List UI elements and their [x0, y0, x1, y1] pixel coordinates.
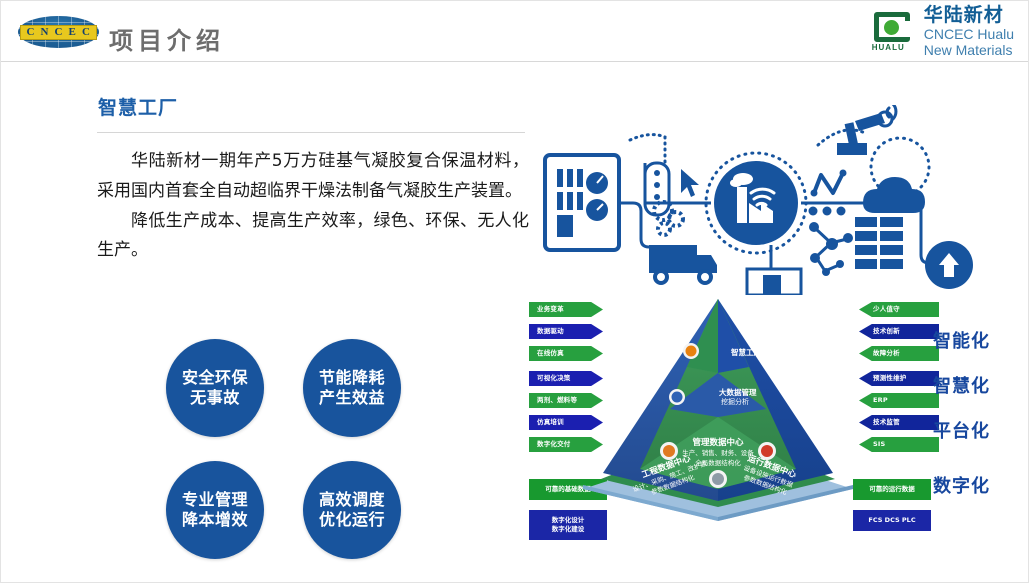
cncec-logo: C N C E C [18, 16, 99, 48]
svg-text:生产、销售、财务、设备: 生产、销售、财务、设备 [682, 448, 754, 457]
hualu-name-en1: CNCEC Hualu [924, 26, 1014, 42]
right-tag: 技术监管 [859, 415, 939, 430]
right-box-line1: 可靠的运行数据 [869, 485, 915, 493]
cncec-letter: E [69, 27, 77, 38]
benefit-circle: 安全环保 无事故 [166, 339, 264, 437]
svg-text:管理数据中心: 管理数据中心 [692, 437, 744, 448]
circle-line-1: 专业管理 [182, 490, 248, 510]
body-paragraph: 降低生产成本、提高生产效率，绿色、环保、无人化生产。 [97, 207, 529, 267]
factory-node-icon [706, 153, 806, 253]
benefit-circles: 安全环保 无事故 节能降耗 产生效益 专业管理 降本增效 高效调度 优化运行 [159, 339, 419, 569]
level-label: 智能化 [933, 333, 990, 351]
level-label: 平台化 [933, 423, 990, 441]
right-box: 可靠的运行数据 [853, 479, 931, 500]
hualu-name-en2: New Materials [924, 42, 1014, 58]
circle-line-1: 安全环保 [182, 368, 248, 388]
right-tag: 预测性维护 [859, 371, 939, 386]
circle-line-2: 无事故 [190, 388, 240, 408]
hualu-mark-icon: HUALU [872, 12, 916, 52]
left-box-line1: 数字化设计 [552, 516, 585, 524]
cncec-letter: N [41, 27, 49, 38]
circle-line-1: 高效调度 [319, 490, 385, 510]
hmi-panel-icon [545, 155, 619, 250]
svg-text:大数据管理: 大数据管理 [719, 387, 757, 397]
right-tag: 故障分析 [859, 346, 939, 361]
benefit-circle: 高效调度 优化运行 [303, 461, 401, 559]
pyramid-graphic: 智慧工厂 大数据管理 挖掘分析 管理数据中心 生产、销售、财务、设备 全局数据结… [581, 293, 856, 523]
slide: C N C E C 项目介绍 HUALU 华陆新材 CNCEC Hualu Ne… [0, 0, 1029, 583]
upload-node-icon [925, 241, 973, 289]
pyramid-apex-label: 智慧工厂 [731, 347, 761, 357]
circle-line-2: 优化运行 [319, 510, 385, 530]
body-paragraph: 华陆新材一期年产5万方硅基气凝胶复合保温材料，采用国内首套全自动超临界干燥法制备… [97, 147, 529, 207]
right-tag: ERP [859, 393, 939, 408]
section-body: 华陆新材一期年产5万方硅基气凝胶复合保温材料，采用国内首套全自动超临界干燥法制备… [97, 147, 529, 266]
right-box-line1: FCS DCS PLC [868, 516, 915, 524]
benefit-circle: 节能降耗 产生效益 [303, 339, 401, 437]
cncec-letter: C [27, 27, 35, 38]
slide-header: C N C E C 项目介绍 HUALU 华陆新材 CNCEC Hualu Ne… [1, 1, 1028, 62]
machine-icon [747, 269, 801, 295]
circle-line-2: 产生效益 [319, 388, 385, 408]
maturity-pyramid-diagram: 业务变革 数据驱动 在线仿真 可视化决策 两剂、燃料等 仿真培训 数字化交付 可… [521, 293, 1026, 553]
cursor-icon [681, 169, 699, 197]
cncec-letter: C [82, 27, 90, 38]
level-label: 数字化 [933, 478, 990, 496]
circle-line-2: 降本增效 [182, 510, 248, 530]
smart-factory-illustration [525, 105, 1025, 295]
section-divider [97, 132, 525, 133]
svg-text:挖掘分析: 挖掘分析 [721, 397, 749, 406]
server-rack-icon [855, 213, 903, 273]
right-box: FCS DCS PLC [853, 510, 931, 531]
controller-icon [645, 163, 669, 215]
analytics-icon [814, 173, 843, 193]
hualu-mark-word: HUALU [872, 44, 905, 52]
cncec-wordmark: C N C E C [20, 25, 97, 40]
cncec-letter: C [55, 27, 63, 38]
truck-icon [649, 245, 717, 283]
level-label: 智慧化 [933, 378, 990, 396]
right-tag: SIS [859, 437, 939, 452]
section-title: 智慧工厂 [98, 99, 178, 118]
right-tag: 少人值守 [859, 302, 939, 317]
hualu-name-cn: 华陆新材 [924, 5, 1014, 26]
right-tag: 技术创新 [859, 324, 939, 339]
hualu-logo: HUALU 华陆新材 CNCEC Hualu New Materials [872, 9, 1014, 55]
cloud-icon [863, 177, 925, 213]
benefit-circle: 专业管理 降本增效 [166, 461, 264, 559]
page-title: 项目介绍 [109, 21, 225, 56]
left-box-line2: 数字化建设 [552, 525, 585, 533]
circle-line-1: 节能降耗 [319, 368, 385, 388]
